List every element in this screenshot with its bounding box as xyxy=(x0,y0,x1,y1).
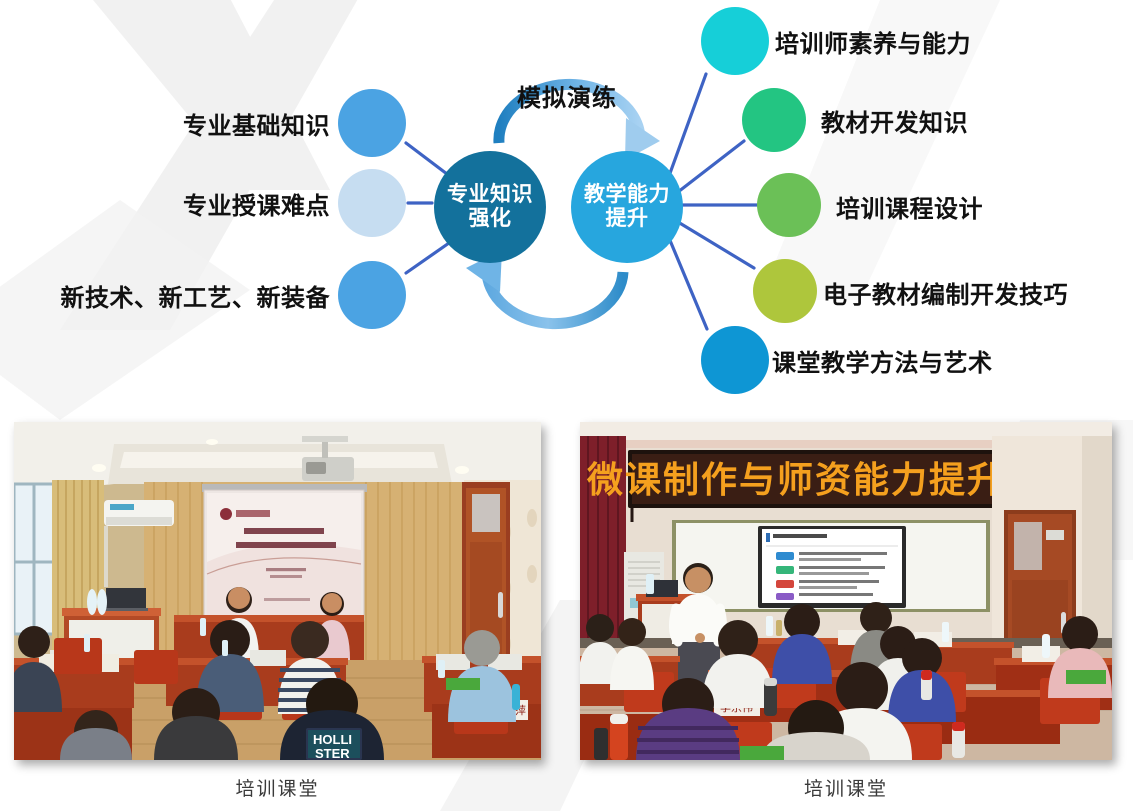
branch-circle-left-2[interactable] xyxy=(338,169,406,237)
cycle-title: 模拟演练 xyxy=(517,78,617,113)
branch-label-left-3: 新技术、新工艺、新装备 xyxy=(61,278,331,313)
branch-label-left-1: 专业基础知识 xyxy=(183,106,330,141)
photo-right[interactable]: 微课制作与师资能力提升培训班 xyxy=(580,422,1112,760)
branch-circle-right-4[interactable] xyxy=(753,259,817,323)
hub-right-line1: 教学能力 xyxy=(584,183,670,207)
branch-label-right-1: 培训师素养与能力 xyxy=(775,24,971,59)
photo-left-wrapper: 崔俊萍 xyxy=(14,422,541,760)
photo-right-caption: 培训课堂 xyxy=(580,774,1112,801)
svg-text:STER: STER xyxy=(315,746,350,760)
concept-diagram: 模拟演练 专业知识 强化 教学能力 提升 专业基础知识 专业授课难点 新技术、新… xyxy=(0,0,1133,400)
photo-left[interactable]: 崔俊萍 xyxy=(14,422,541,760)
branch-label-right-2: 教材开发知识 xyxy=(821,103,968,138)
hub-left-line2: 强化 xyxy=(447,207,533,231)
hub-right-line2: 提升 xyxy=(584,207,670,231)
branch-circle-left-3[interactable] xyxy=(338,261,406,329)
photo-left-caption: 培训课堂 xyxy=(14,774,541,801)
photo-right-scene: 微课制作与师资能力提升培训班 xyxy=(580,422,1112,760)
hub-professional-knowledge[interactable]: 专业知识 强化 xyxy=(434,151,546,263)
branch-circle-right-1[interactable] xyxy=(701,7,769,75)
branch-circle-right-5[interactable] xyxy=(701,326,769,394)
branch-circle-right-3[interactable] xyxy=(757,173,821,237)
hub-teaching-ability[interactable]: 教学能力 提升 xyxy=(571,151,683,263)
photo-right-wrapper: 微课制作与师资能力提升培训班 xyxy=(580,422,1112,760)
hub-left-line1: 专业知识 xyxy=(447,183,533,207)
photo-left-scene: 崔俊萍 xyxy=(14,422,541,760)
branch-circle-right-2[interactable] xyxy=(742,88,806,152)
branch-circle-left-1[interactable] xyxy=(338,89,406,157)
svg-text:HOLLI: HOLLI xyxy=(313,732,352,747)
branch-label-right-5: 课堂教学方法与艺术 xyxy=(772,343,993,378)
branch-label-left-2: 专业授课难点 xyxy=(183,186,330,221)
branch-label-right-3: 培训课程设计 xyxy=(836,189,983,224)
branch-label-right-4: 电子教材编制开发技巧 xyxy=(823,275,1068,310)
slide-canvas: 模拟演练 专业知识 强化 教学能力 提升 专业基础知识 专业授课难点 新技术、新… xyxy=(0,0,1133,811)
